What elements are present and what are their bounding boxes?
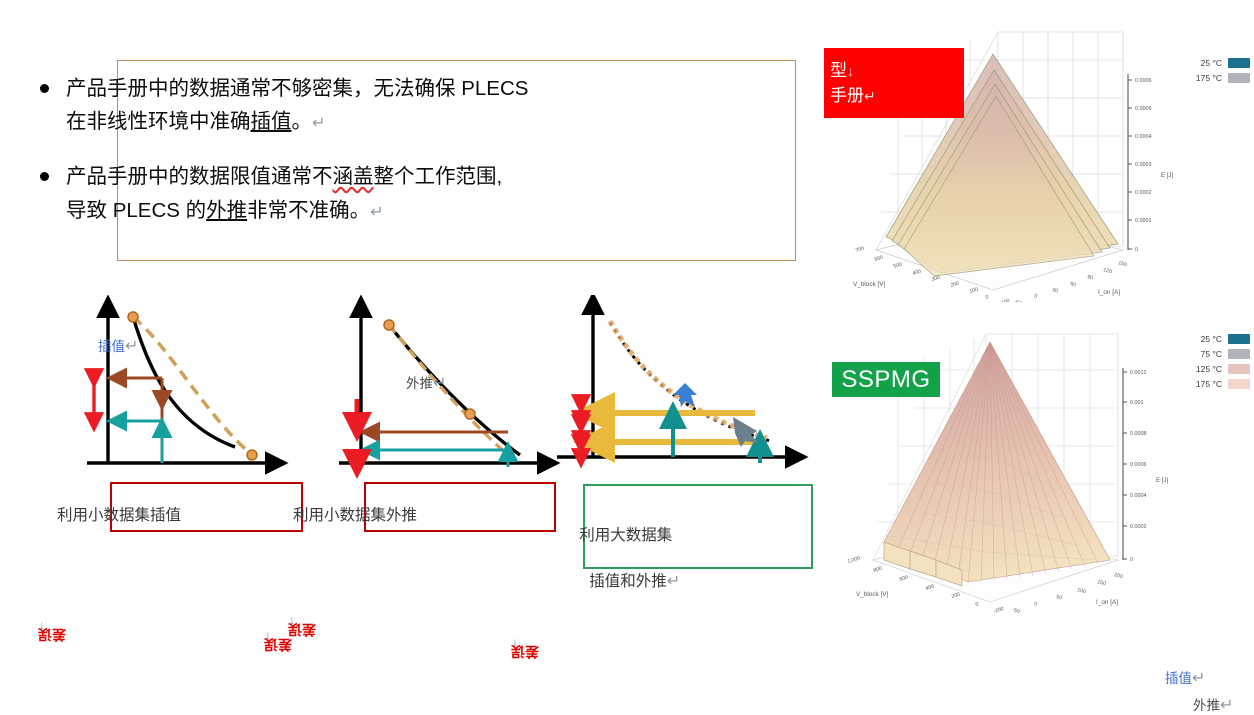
chart-top-ytick-3: 60 <box>1069 281 1076 288</box>
chart-bottom-xtick-0: 1,000 <box>847 555 861 565</box>
pilcrow-mark: ↵ <box>312 115 325 132</box>
chart-top-ztick-4: 0.0002 <box>1135 190 1152 196</box>
bullet-1-line-2: 在非线性环境中准确插值。↵ <box>66 105 800 138</box>
legend-item: 175 °C <box>1196 379 1250 389</box>
chart-top-ytick-2: 30 <box>1051 287 1058 294</box>
chart-top-ytick-4: 90 <box>1086 274 1093 281</box>
chart-top-legend: 25 °C 175 °C <box>1196 58 1250 83</box>
diagram-small-dataset-interpolation: 插值↵ <box>30 295 300 595</box>
sspmg-green-banner: SSPMG <box>832 362 940 397</box>
chart-bottom-ylabel: I_on [A] <box>1096 599 1118 606</box>
chart-top-ztick-5: 0.0001 <box>1135 218 1152 224</box>
chart-top-xtick-7: 0 <box>985 294 990 301</box>
chart-bottom-xtick-1: 800 <box>873 566 883 574</box>
chart-bottom-xtick-6: -200 <box>993 606 1005 615</box>
chart-top-ytick-6: 150 <box>1117 260 1127 268</box>
diagram-1-curve-label: 插值↵ <box>98 335 138 356</box>
chart-bottom-xtick-2: 600 <box>899 575 909 583</box>
spellcheck-term: 涵盖 <box>333 165 374 188</box>
legend-item: 125 °C <box>1196 364 1250 374</box>
chart-top-ytick-1: 0 <box>1033 293 1037 300</box>
red-banner-line-1: 型↓ <box>830 58 964 84</box>
error-label-right-2: 误差 <box>511 645 539 659</box>
legend-item: 25 °C <box>1196 58 1250 68</box>
chart-bottom-ztick-5: 0.0002 <box>1130 524 1147 530</box>
diagram-2-curve-label: 外推↵ <box>406 372 446 393</box>
legend-label: 75 °C <box>1201 349 1222 359</box>
chart-bottom-ztick-2: 0.0008 <box>1130 431 1147 437</box>
chart-bottom-ytick-0: -50 <box>1011 607 1020 615</box>
legend-swatch-icon <box>1228 334 1250 344</box>
chart-top-ytick-5: 120 <box>1102 267 1112 275</box>
chart-top-xtick-5: 200 <box>950 281 960 289</box>
chart-top-zlabel: E [J] <box>1161 173 1173 179</box>
legend-label: 125 °C <box>1196 364 1222 374</box>
chart-bottom-ytick-2: 50 <box>1055 594 1062 601</box>
legend-label: 175 °C <box>1196 73 1222 83</box>
legend-label: 175 °C <box>1196 379 1222 389</box>
legend-label: 25 °C <box>1201 334 1222 344</box>
chart-top-xtick-6: 100 <box>969 287 979 295</box>
bullet-2-line-1: 产品手册中的数据限值通常不涵盖整个工作范围, <box>66 160 800 193</box>
chart-bottom-xlabel: V_block [V] <box>856 591 889 598</box>
chart-top-ylabel: I_on [A] <box>1098 289 1120 296</box>
slide-canvas: 产品手册中的数据通常不够密集，无法确保 PLECS 在非线性环境中准确插值。↵ … <box>0 0 1254 628</box>
diagram-3-extrap-label: 外推↵ <box>1193 694 1233 715</box>
legend-item: 175 °C <box>1196 73 1250 83</box>
bullet-1-line-1: 产品手册中的数据通常不够密集，无法确保 PLECS <box>66 72 800 105</box>
sspmg-label: SSPMG <box>841 366 930 394</box>
legend-swatch-icon <box>1228 73 1250 83</box>
chart-bottom-legend: 25 °C 75 °C 125 °C 175 °C <box>1196 334 1250 389</box>
bullet-dot-icon <box>40 172 49 181</box>
legend-item: 25 °C <box>1196 334 1250 344</box>
caption-2: 利用小数据集外推 <box>293 505 417 527</box>
chart-top-ytick-0: -50 <box>1013 299 1022 302</box>
caption-3: 利用大数据集 插值和外推↵ <box>562 503 680 616</box>
legend-item: 75 °C <box>1196 349 1250 359</box>
red-callout-banner: 型↓ 手册↵ <box>824 48 964 118</box>
chart-bottom-xtick-5: 0 <box>975 601 980 608</box>
pilcrow-mark: ↵ <box>370 204 383 221</box>
chart-top-xtick-8: -100 <box>999 298 1011 302</box>
chart-top-xtick-1: 600 <box>874 255 884 263</box>
bullet-text-2: 产品手册中的数据限值通常不涵盖整个工作范围, 导致 PLECS 的外推非常不准确… <box>66 160 800 226</box>
caption-3-line-2: 插值和外推 <box>579 573 667 590</box>
error-label-right-1: 误差 <box>264 638 292 652</box>
diagram-small-dataset-extrapolation: 外推↵ <box>285 295 555 595</box>
chart-top-xlabel: V_block [V] <box>853 281 886 288</box>
chart-top-ztick-3: 0.0003 <box>1135 162 1152 168</box>
chart-bottom-ztick-4: 0.0004 <box>1130 493 1147 499</box>
caption-3-line-1: 利用大数据集 <box>579 527 672 544</box>
underlined-term-extrapolation: 外推 <box>206 199 247 222</box>
chart-top-ztick-1: 0.0005 <box>1135 106 1152 112</box>
legend-swatch-icon <box>1228 364 1250 374</box>
chart-top-ztick-0: 0.0006 <box>1135 78 1152 84</box>
red-banner-line-2: 手册↵ <box>830 83 964 109</box>
chart-bottom-ztick-1: 0.001 <box>1130 400 1144 406</box>
legend-swatch-icon <box>1228 58 1250 68</box>
chart-top-xtick-4: 300 <box>931 275 941 283</box>
caption-1: 利用小数据集插值 <box>57 505 181 527</box>
chart-bottom-ztick-0: 0.0012 <box>1130 370 1147 376</box>
bullet-2-line-2: 导致 PLECS 的外推非常不准确。↵ <box>66 194 800 227</box>
diagram-3-svg <box>555 295 825 515</box>
chart-bottom-ytick-1: 0 <box>1033 601 1037 608</box>
legend-label: 25 °C <box>1201 58 1222 68</box>
chart-top-xtick-2: 500 <box>893 262 903 270</box>
bullet-list: 产品手册中的数据通常不够密集，无法确保 PLECS 在非线性环境中准确插值。↵ … <box>40 72 800 249</box>
error-label-left-1: 误差 <box>38 628 66 642</box>
bullet-dot-icon <box>40 84 49 93</box>
bullet-item-1: 产品手册中的数据通常不够密集，无法确保 PLECS 在非线性环境中准确插值。↵ <box>40 72 800 138</box>
chart-bottom-ytick-5: 200 <box>1113 572 1123 580</box>
chart-top-xtick-3: 400 <box>912 269 922 277</box>
error-label-left-2: 误差 <box>288 623 316 637</box>
chart-bottom-ytick-4: 150 <box>1096 579 1106 587</box>
chart-bottom-zlabel: E [J] <box>1156 478 1168 484</box>
legend-swatch-icon <box>1228 349 1250 359</box>
chart-top-ztick-2: 0.0004 <box>1135 134 1152 140</box>
underlined-term-interpolation: 插值 <box>251 110 292 133</box>
chart-bottom-xtick-3: 400 <box>925 584 935 592</box>
chart-bottom-ztick-3: 0.0006 <box>1130 462 1147 468</box>
chart-bottom-xtick-4: 200 <box>951 592 961 600</box>
chart-bottom-ytick-3: 100 <box>1076 587 1086 595</box>
chart-top-ztick-6: 0 <box>1135 247 1138 253</box>
bullet-text-1: 产品手册中的数据通常不够密集，无法确保 PLECS 在非线性环境中准确插值。↵ <box>66 72 800 138</box>
legend-swatch-icon <box>1228 379 1250 389</box>
diagram-3-interp-label: 插值↵ <box>1165 667 1205 688</box>
chart-top-xtick-0: 700 <box>855 246 865 254</box>
chart-bottom-ztick-6: 0 <box>1130 557 1133 563</box>
bullet-item-2: 产品手册中的数据限值通常不涵盖整个工作范围, 导致 PLECS 的外推非常不准确… <box>40 160 800 226</box>
